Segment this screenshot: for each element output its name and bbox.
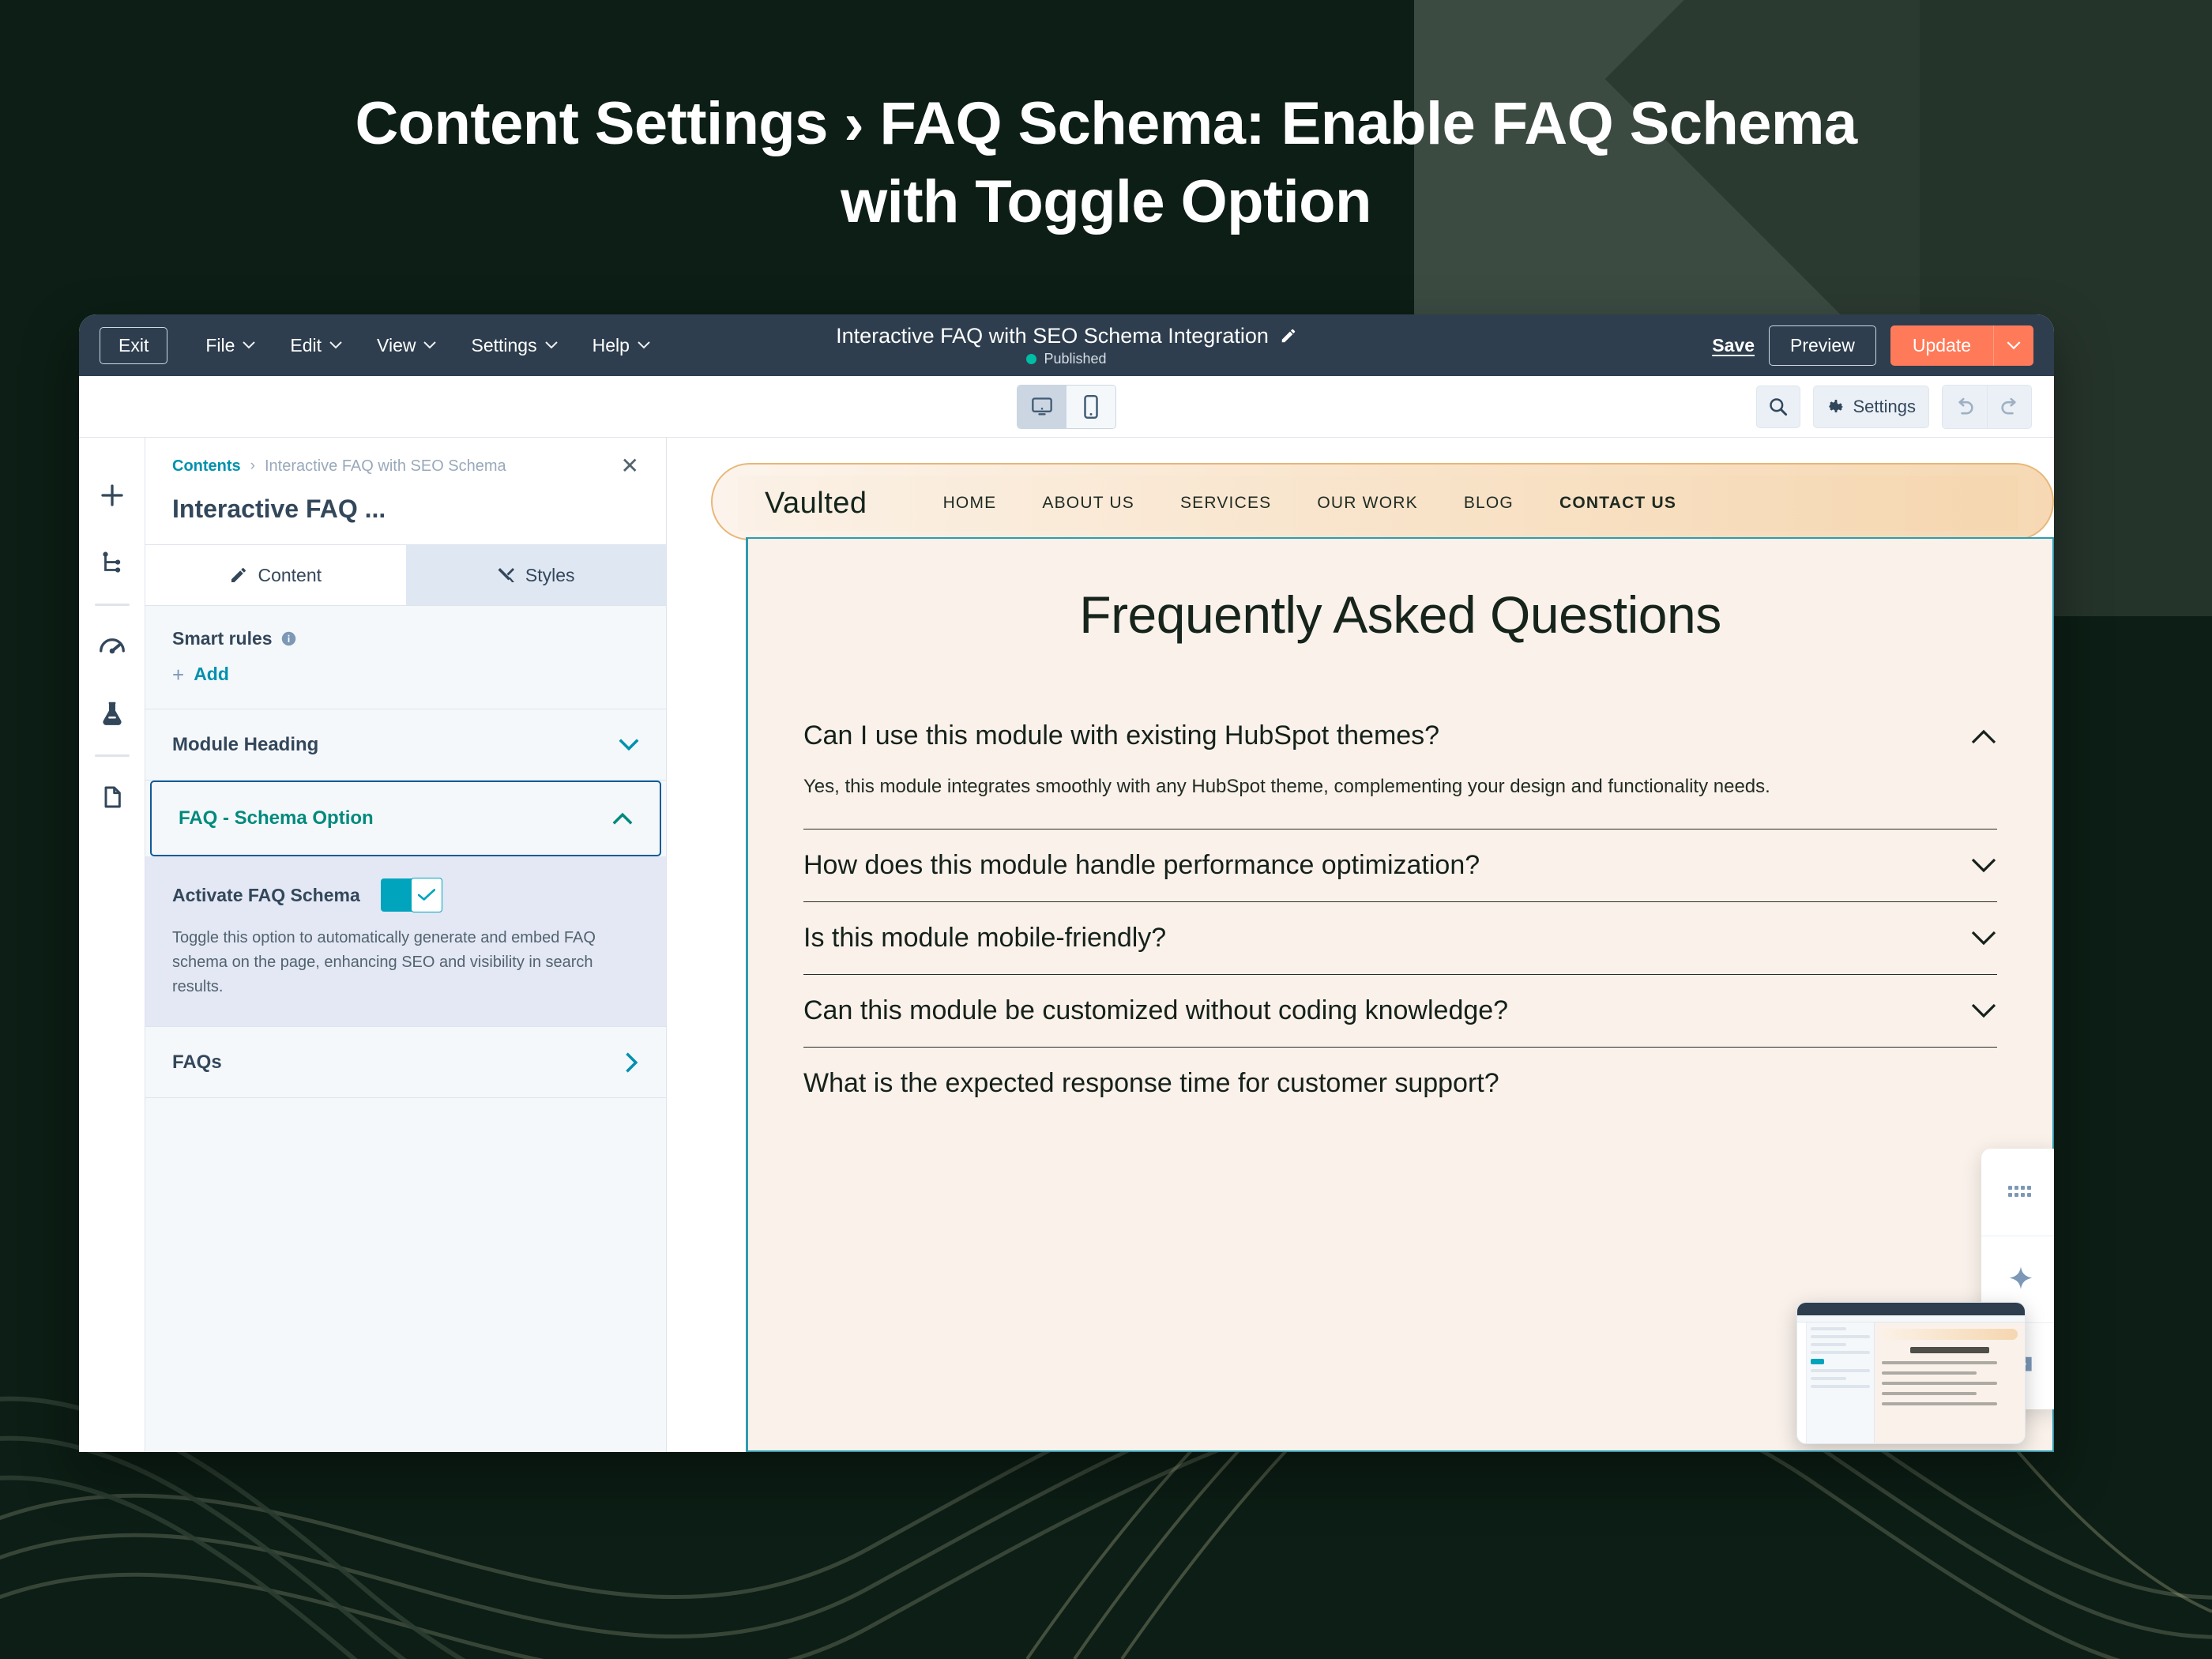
smart-rules-label: Smart rules xyxy=(172,628,273,649)
toggle-knob xyxy=(411,878,442,912)
faq-schema-option-panel: Activate FAQ Schema Toggle this option t… xyxy=(145,856,666,1027)
chevron-down-icon xyxy=(243,341,255,349)
faq-item[interactable]: What is the expected response time for c… xyxy=(803,1048,1997,1119)
nav-link-blog[interactable]: BLOG xyxy=(1464,494,1514,513)
search-button[interactable] xyxy=(1756,386,1800,428)
add-module-button[interactable] xyxy=(79,461,145,529)
thumbnail-preview xyxy=(1875,1322,2025,1443)
sitemap-icon xyxy=(99,550,126,577)
inspector-tabs: Content Styles xyxy=(145,545,666,606)
editor-body: Contents › Interactive FAQ with SEO Sche… xyxy=(79,438,2054,1452)
faq-question-row[interactable]: What is the expected response time for c… xyxy=(803,1048,1997,1119)
nav-link-contact-us[interactable]: CONTACT US xyxy=(1559,494,1676,513)
menu-help-label: Help xyxy=(592,335,630,356)
chevron-right-icon xyxy=(625,1052,639,1073)
document-icon xyxy=(100,784,125,810)
thumbnail-toolbar xyxy=(1797,1315,2025,1322)
chevron-up-icon[interactable] xyxy=(1970,728,1997,744)
undo-redo-group xyxy=(1942,385,2032,429)
paintbrush-icon xyxy=(497,566,516,585)
mobile-icon xyxy=(1082,395,1100,419)
thumbnail-body xyxy=(1797,1322,2025,1443)
pencil-icon xyxy=(229,566,248,585)
menu-view[interactable]: View xyxy=(359,329,453,363)
gear-icon xyxy=(1826,397,1845,416)
optimization-button[interactable] xyxy=(79,612,145,680)
breadcrumb: Contents › Interactive FAQ with SEO Sche… xyxy=(172,455,639,477)
apps-grid-button[interactable] xyxy=(1981,1149,2054,1236)
faq-item[interactable]: Can I use this module with existing HubS… xyxy=(803,700,1997,829)
activate-faq-schema-help-text: Toggle this option to automatically gene… xyxy=(172,926,599,999)
editor-topbar: Exit File Edit View Settings Help Intera… xyxy=(79,314,2054,376)
chevron-up-icon xyxy=(612,812,633,825)
menu-view-label: View xyxy=(377,335,416,356)
menu-file[interactable]: File xyxy=(188,329,273,363)
thumbnail-topbar xyxy=(1797,1303,2025,1315)
settings-button-label: Settings xyxy=(1853,397,1917,417)
faq-question-text: What is the expected response time for c… xyxy=(803,1068,1499,1099)
settings-button[interactable]: Settings xyxy=(1813,386,1930,428)
tab-styles-label: Styles xyxy=(525,565,575,586)
faq-item[interactable]: Is this module mobile-friendly? xyxy=(803,902,1997,975)
smart-rules-add-button[interactable]: + Add xyxy=(172,664,639,685)
ab-test-button[interactable] xyxy=(79,680,145,748)
device-mobile-button[interactable] xyxy=(1066,386,1115,428)
redo-icon xyxy=(1999,396,2021,418)
faq-question-row[interactable]: Can this module be customized without co… xyxy=(803,975,1997,1047)
editor-window: Exit File Edit View Settings Help Intera… xyxy=(79,314,2054,1452)
faq-question-text: Can this module be customized without co… xyxy=(803,995,1508,1026)
accordion-module-heading-label: Module Heading xyxy=(172,734,318,756)
faq-question-row[interactable]: Can I use this module with existing HubS… xyxy=(803,700,1997,772)
activate-faq-schema-row: Activate FAQ Schema xyxy=(172,878,639,912)
rail-divider xyxy=(95,604,130,606)
plus-icon: + xyxy=(172,664,184,685)
status-badge: Published xyxy=(1044,351,1106,367)
accordion-faqs-label: FAQs xyxy=(172,1051,222,1074)
page-title-line-1: Content Settings › FAQ Schema: Enable FA… xyxy=(0,85,2212,164)
speedometer-icon xyxy=(98,632,126,660)
faq-question-row[interactable]: Is this module mobile-friendly? xyxy=(803,902,1997,974)
menu-edit-label: Edit xyxy=(290,335,322,356)
sparkle-icon xyxy=(2006,1265,2036,1295)
tab-content-label: Content xyxy=(258,565,322,586)
module-inspector-panel: Contents › Interactive FAQ with SEO Sche… xyxy=(145,438,667,1452)
flask-icon xyxy=(99,701,126,728)
editor-toolbar: Settings xyxy=(79,376,2054,438)
update-button-group: Update xyxy=(1890,325,2033,366)
site-navbar: Vaulted HOME ABOUT US SERVICES OUR WORK … xyxy=(738,476,2018,531)
update-dropdown-button[interactable] xyxy=(1993,325,2033,366)
desktop-icon xyxy=(1030,396,1054,418)
update-button[interactable]: Update xyxy=(1890,325,1993,366)
site-logo[interactable]: Vaulted xyxy=(765,487,867,521)
faq-question-row[interactable]: How does this module handle performance … xyxy=(803,829,1997,901)
nav-link-services[interactable]: SERVICES xyxy=(1180,494,1271,513)
undo-icon xyxy=(1954,396,1976,418)
nav-link-about-us[interactable]: ABOUT US xyxy=(1042,494,1134,513)
accordion-faq-schema-option[interactable]: FAQ - Schema Option xyxy=(150,781,661,856)
activate-faq-schema-label: Activate FAQ Schema xyxy=(172,885,360,906)
inspector-header: Contents › Interactive FAQ with SEO Sche… xyxy=(145,438,666,545)
search-icon xyxy=(1767,396,1789,417)
info-icon[interactable] xyxy=(280,630,297,647)
chevron-down-icon xyxy=(545,341,558,349)
thumbnail-rail xyxy=(1797,1322,1807,1443)
menu-help[interactable]: Help xyxy=(575,329,668,363)
faq-item[interactable]: Can this module be customized without co… xyxy=(803,975,1997,1048)
check-icon xyxy=(418,889,435,901)
accordion-faqs[interactable]: FAQs xyxy=(145,1027,666,1098)
chevron-down-icon xyxy=(329,341,342,349)
pencil-icon[interactable] xyxy=(1280,327,1297,344)
menu-settings-label: Settings xyxy=(471,335,536,356)
nav-link-home[interactable]: HOME xyxy=(943,494,997,513)
chevron-down-icon[interactable] xyxy=(1970,858,1997,874)
chevron-down-icon[interactable] xyxy=(1970,931,1997,946)
accordion-module-heading[interactable]: Module Heading xyxy=(145,709,666,781)
device-desktop-button[interactable] xyxy=(1018,386,1066,428)
preview-thumbnail[interactable] xyxy=(1796,1302,2026,1444)
plus-icon xyxy=(98,481,126,510)
page-preview-area: Vaulted HOME ABOUT US SERVICES OUR WORK … xyxy=(667,438,2054,1452)
device-preview-switch xyxy=(1017,385,1116,429)
exit-button[interactable]: Exit xyxy=(100,327,167,364)
smart-rules-add-label: Add xyxy=(194,664,229,685)
menu-file-label: File xyxy=(205,335,235,356)
breadcrumb-separator: › xyxy=(250,457,255,475)
content-tree-button[interactable] xyxy=(79,529,145,597)
faq-question-text: Can I use this module with existing HubS… xyxy=(803,720,1439,751)
status-dot-icon xyxy=(1026,354,1036,364)
document-title: Interactive FAQ with SEO Schema Integrat… xyxy=(836,324,1269,348)
preview-button[interactable]: Preview xyxy=(1769,325,1876,366)
chevron-down-icon xyxy=(619,739,639,751)
undo-button[interactable] xyxy=(1943,386,1987,428)
chevron-down-icon xyxy=(2007,341,2021,350)
tab-content[interactable]: Content xyxy=(145,545,406,605)
faq-answer-text: Yes, this module integrates smoothly wit… xyxy=(803,772,1846,829)
thumbnail-sidebar xyxy=(1807,1322,1875,1443)
smart-rules-label-row: Smart rules xyxy=(172,628,639,649)
faq-item[interactable]: How does this module handle performance … xyxy=(803,829,1997,902)
menu-edit[interactable]: Edit xyxy=(273,329,359,363)
apps-grid-icon xyxy=(2007,1183,2034,1201)
inspector-title: Interactive FAQ ... xyxy=(172,495,639,524)
breadcrumb-contents-link[interactable]: Contents xyxy=(172,457,241,476)
faq-question-text: How does this module handle performance … xyxy=(803,850,1480,881)
close-icon[interactable]: ✕ xyxy=(621,455,639,477)
left-icon-rail xyxy=(79,438,145,1452)
chevron-down-icon xyxy=(638,341,650,349)
breadcrumb-current: Interactive FAQ with SEO Schema xyxy=(265,457,506,476)
activate-faq-schema-toggle[interactable] xyxy=(381,878,442,912)
save-button[interactable]: Save xyxy=(1712,335,1755,356)
chevron-down-icon[interactable] xyxy=(1970,1003,1997,1019)
page-file-button[interactable] xyxy=(79,763,145,831)
page-title-line-2: with Toggle Option xyxy=(0,164,2212,242)
menu-settings[interactable]: Settings xyxy=(453,329,574,363)
page-title: Content Settings › FAQ Schema: Enable FA… xyxy=(0,85,2212,242)
nav-link-our-work[interactable]: OUR WORK xyxy=(1317,494,1417,513)
tab-styles[interactable]: Styles xyxy=(406,545,667,605)
rail-divider xyxy=(95,754,130,757)
redo-button[interactable] xyxy=(1987,386,2031,428)
faq-section-heading: Frequently Asked Questions xyxy=(803,585,1997,645)
faq-question-text: Is this module mobile-friendly? xyxy=(803,923,1166,954)
toolbar-actions: Settings xyxy=(1756,385,2055,429)
accordion-faq-schema-option-label: FAQ - Schema Option xyxy=(179,807,374,829)
topbar-actions: Save Preview Update xyxy=(1712,325,2033,366)
smart-rules-section: Smart rules + Add xyxy=(145,606,666,709)
chevron-down-icon xyxy=(423,341,436,349)
site-nav-links: HOME ABOUT US SERVICES OUR WORK BLOG CON… xyxy=(943,494,1677,513)
